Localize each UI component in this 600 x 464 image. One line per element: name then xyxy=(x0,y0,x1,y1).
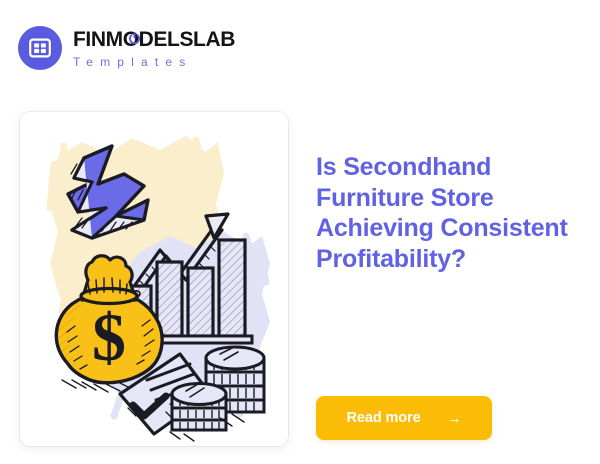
promo-card: FINMODELSLAB Templates xyxy=(0,0,600,464)
read-more-label: Read more xyxy=(347,410,421,426)
brand-name: FINMODELSLAB xyxy=(73,29,235,50)
svg-text:$: $ xyxy=(92,299,126,375)
arrow-right-icon: → xyxy=(447,411,462,426)
brand-logo[interactable]: FINMODELSLAB Templates xyxy=(18,26,235,70)
brand-text: FINMODELSLAB Templates xyxy=(73,29,235,68)
page-title: Is Secondhand Furniture Store Achieving … xyxy=(316,152,568,274)
read-more-button[interactable]: Read more → xyxy=(316,396,492,440)
brand-subtitle: Templates xyxy=(73,56,235,68)
brand-name-label: FINMODELSLAB xyxy=(73,28,235,51)
illustration-card: $ xyxy=(20,112,288,446)
business-profitability-doodle: $ xyxy=(20,112,288,446)
grid-squares-icon xyxy=(18,26,62,70)
